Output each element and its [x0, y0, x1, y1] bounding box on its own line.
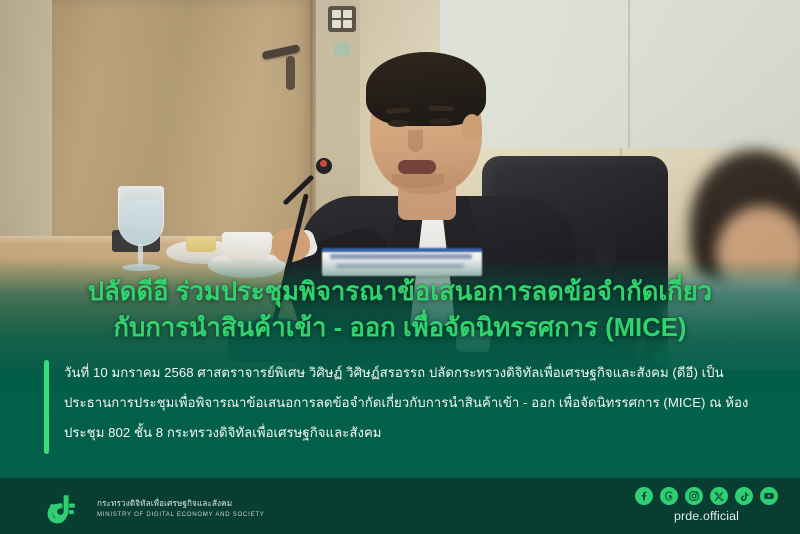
announcement-card: ปลัดดีอี ร่วมประชุมพิจารณาข้อเสนอการลดข้… [0, 0, 800, 534]
ministry-name-en: MINISTRY OF DIGITAL ECONOMY AND SOCIETY [97, 510, 265, 519]
social-links: prde.official [635, 487, 778, 523]
tiktok-icon[interactable] [735, 487, 753, 505]
ministry-logo: กระทรวงดิจิทัลเพื่อเศรษฐกิจและสังคม MINI… [44, 492, 265, 526]
ministry-name-th: กระทรวงดิจิทัลเพื่อเศรษฐกิจและสังคม [97, 498, 265, 510]
instagram-icon[interactable] [685, 487, 703, 505]
de-monogram-logo-icon [44, 492, 88, 526]
body-line-1: วันที่ 10 มกราคม 2568 ศาสตราจารย์พิเศษ ว… [64, 358, 756, 388]
ministry-name: กระทรวงดิจิทัลเพื่อเศรษฐกิจและสังคม MINI… [97, 498, 265, 519]
headline: ปลัดดีอี ร่วมประชุมพิจารณาข้อเสนอการลดข้… [0, 274, 800, 346]
threads-icon[interactable] [660, 487, 678, 505]
body-text-block: วันที่ 10 มกราคม 2568 ศาสตราจารย์พิเศษ ว… [44, 358, 756, 448]
body-line-2: ประธานการประชุมเพื่อพิจารณาข้อเสนอการลดข… [64, 388, 756, 418]
headline-line-2: กับการนำสินค้าเข้า - ออก เพื่อจัดนิทรรศก… [0, 310, 800, 346]
youtube-icon[interactable] [760, 487, 778, 505]
social-icon-row [635, 487, 778, 505]
facebook-icon[interactable] [635, 487, 653, 505]
body-line-3: ประชุม 802 ชั้น 8 กระทรวงดิจิทัลเพื่อเศร… [64, 418, 756, 448]
headline-line-1: ปลัดดีอี ร่วมประชุมพิจารณาข้อเสนอการลดข้… [0, 274, 800, 310]
x-twitter-icon[interactable] [710, 487, 728, 505]
social-handle: prde.official [635, 509, 778, 523]
